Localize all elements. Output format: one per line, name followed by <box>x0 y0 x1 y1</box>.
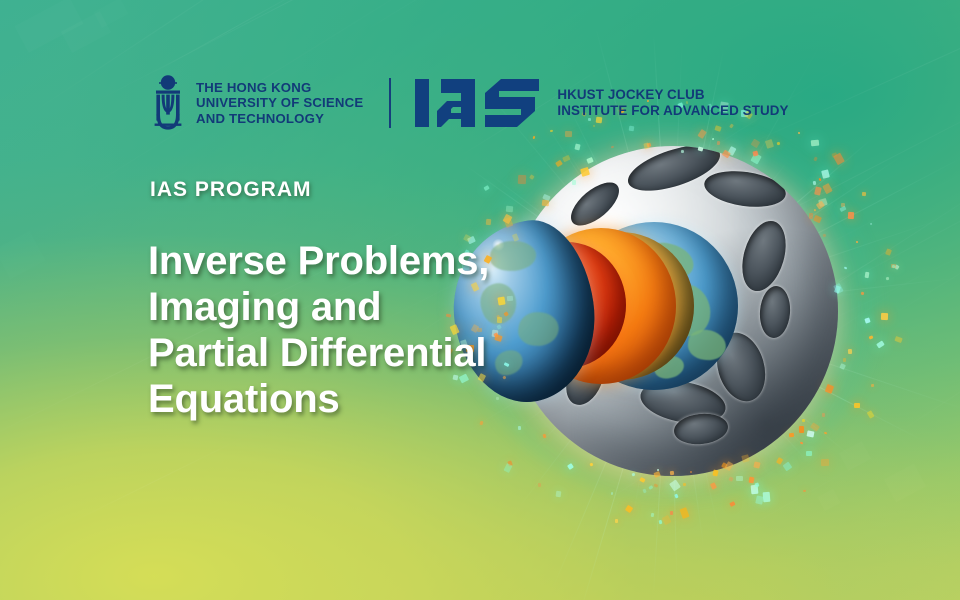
orange-light-particle <box>895 336 903 343</box>
title-line-4: Equations <box>148 376 578 422</box>
light-streak <box>61 429 259 528</box>
program-kicker: IAS PROGRAM <box>150 178 312 202</box>
light-streak <box>357 0 609 36</box>
cyan-light-particle <box>659 519 663 524</box>
background-square <box>94 0 129 28</box>
orange-light-particle <box>777 142 781 146</box>
cyan-light-particle <box>484 185 490 191</box>
cyan-light-particle <box>876 341 885 349</box>
light-streak <box>622 0 960 60</box>
header-logo-bar: THE HONG KONG UNIVERSITY OF SCIENCE AND … <box>150 72 789 134</box>
orange-light-particle <box>803 490 806 492</box>
orange-light-particle <box>861 192 865 196</box>
university-name-line-2: UNIVERSITY OF SCIENCE <box>196 95 363 111</box>
orange-light-particle <box>885 249 891 256</box>
cyan-light-particle <box>556 491 562 497</box>
orange-light-particle <box>615 519 618 523</box>
orange-light-particle <box>729 501 735 507</box>
title-line-3: Partial Differential <box>148 330 578 376</box>
page-title: Inverse Problems, Imaging and Partial Di… <box>148 238 578 422</box>
university-name-line-1: THE HONG KONG <box>196 80 363 96</box>
university-name-line-3: AND TECHNOLOGY <box>196 111 363 127</box>
ias-name-line-1: HKUST JOCKEY CLUB <box>557 87 788 103</box>
logo-divider <box>389 78 391 128</box>
background-square <box>884 464 926 503</box>
cyan-light-particle <box>886 277 890 281</box>
orange-light-particle <box>798 132 801 135</box>
orange-light-particle <box>820 459 828 466</box>
orange-light-particle <box>508 461 513 467</box>
orange-light-particle <box>814 157 819 162</box>
ias-wordmark-icon <box>413 75 541 131</box>
shell-perforation <box>735 216 793 296</box>
background-square <box>0 231 46 280</box>
cyan-light-particle <box>870 223 873 226</box>
orange-light-particle <box>538 483 541 487</box>
cyan-light-particle <box>503 463 512 473</box>
light-streak <box>0 0 482 16</box>
light-streak <box>145 0 325 77</box>
university-name: THE HONG KONG UNIVERSITY OF SCIENCE AND … <box>196 80 363 127</box>
orange-light-particle <box>670 511 673 515</box>
cyan-light-particle <box>755 496 763 505</box>
orange-light-particle <box>624 505 633 514</box>
cyan-light-particle <box>894 265 899 270</box>
orange-light-particle <box>532 136 535 139</box>
cyan-light-particle <box>810 140 818 147</box>
shell-perforation <box>758 285 792 339</box>
orange-light-particle <box>881 313 889 320</box>
orange-light-particle <box>891 264 896 268</box>
hkust-shield-icon <box>150 74 186 132</box>
poster-canvas: THE HONG KONG UNIVERSITY OF SCIENCE AND … <box>0 0 960 600</box>
background-square <box>61 11 111 53</box>
cyan-light-particle <box>892 265 895 269</box>
cyan-light-particle <box>763 492 771 502</box>
cyan-light-particle <box>650 512 654 516</box>
ias-name-line-2: INSTITUTE FOR ADVANCED STUDY <box>557 103 788 119</box>
cyan-light-particle <box>750 484 758 493</box>
orange-light-particle <box>871 384 874 387</box>
background-square <box>15 0 84 53</box>
ias-name: HKUST JOCKEY CLUB INSTITUTE FOR ADVANCED… <box>557 87 788 119</box>
title-line-1: Inverse Problems, <box>148 238 578 284</box>
shell-perforation <box>564 175 626 234</box>
orange-light-particle <box>679 507 689 519</box>
orange-light-particle <box>832 152 838 158</box>
light-streak <box>451 0 960 45</box>
orange-light-particle <box>661 514 671 524</box>
title-line-2: Imaging and <box>148 284 578 330</box>
